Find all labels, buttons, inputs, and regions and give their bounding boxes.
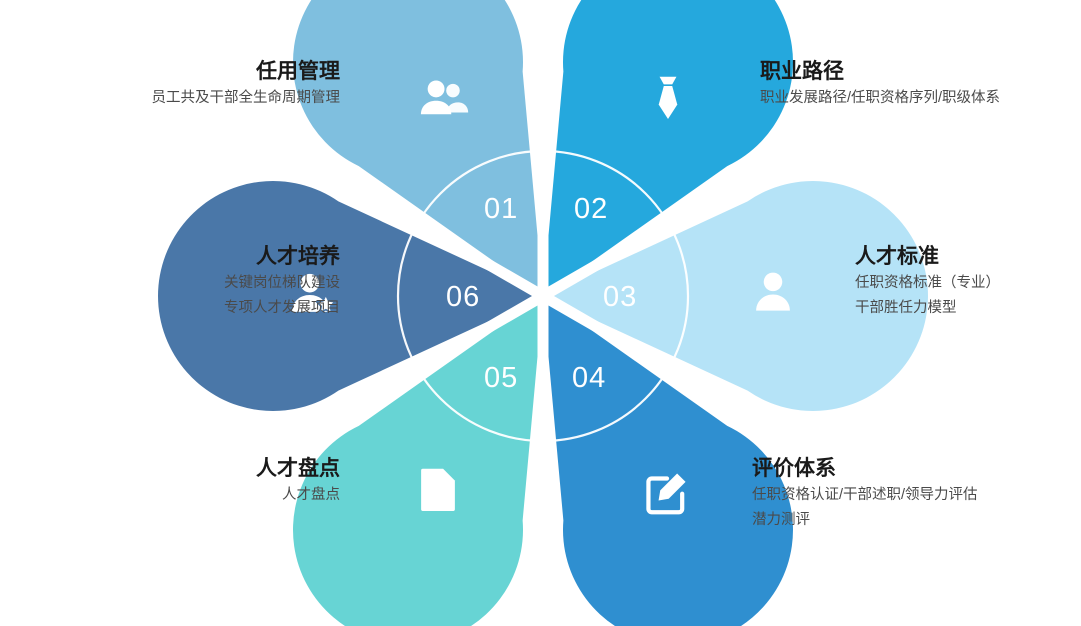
- two-users-icon: [415, 72, 469, 126]
- label-block-05: 人才盘点 人才盘点: [30, 455, 340, 508]
- label-title-02: 职业路径: [760, 58, 1081, 86]
- label-block-02: 职业路径 职业发展路径/任职资格序列/职级体系: [760, 58, 1081, 111]
- label-block-01: 任用管理 员工共及干部全生命周期管理: [40, 58, 340, 111]
- label-desc-03-1: 干部胜任力模型: [855, 296, 1081, 321]
- user-badge-icon: [746, 265, 800, 319]
- label-desc-02-0: 职业发展路径/任职资格序列/职级体系: [760, 86, 1081, 111]
- label-block-06: 人才培养 关键岗位梯队建设 专项人才发展项目: [30, 243, 340, 321]
- petal-number-06: 06: [446, 281, 480, 314]
- label-title-01: 任用管理: [40, 58, 340, 86]
- flower-diagram: 01 02 03 04 05 06: [0, 0, 1081, 626]
- label-block-03: 人才标准 任职资格标准（专业） 干部胜任力模型: [855, 243, 1081, 321]
- petal-number-01: 01: [484, 193, 518, 226]
- label-title-03: 人才标准: [855, 243, 1081, 271]
- petal-number-05: 05: [484, 362, 518, 395]
- label-title-04: 评价体系: [752, 455, 1081, 483]
- petal-number-04: 04: [572, 362, 606, 395]
- petal-number-03: 03: [603, 281, 637, 314]
- edit-square-icon: [640, 465, 694, 519]
- label-block-04: 评价体系 任职资格认证/干部述职/领导力评估 潜力测评: [752, 455, 1081, 533]
- label-title-05: 人才盘点: [30, 455, 340, 483]
- label-desc-04-1: 潜力测评: [752, 508, 1081, 533]
- label-desc-04-0: 任职资格认证/干部述职/领导力评估: [752, 483, 1081, 508]
- petal-number-02: 02: [574, 193, 608, 226]
- label-desc-05-0: 人才盘点: [30, 483, 340, 508]
- necktie-icon: [641, 70, 695, 124]
- document-search-icon: [411, 462, 465, 516]
- label-desc-06-1: 专项人才发展项目: [30, 296, 340, 321]
- label-desc-06-0: 关键岗位梯队建设: [30, 271, 340, 296]
- label-title-06: 人才培养: [30, 243, 340, 271]
- label-desc-01-0: 员工共及干部全生命周期管理: [40, 86, 340, 111]
- label-desc-03-0: 任职资格标准（专业）: [855, 271, 1081, 296]
